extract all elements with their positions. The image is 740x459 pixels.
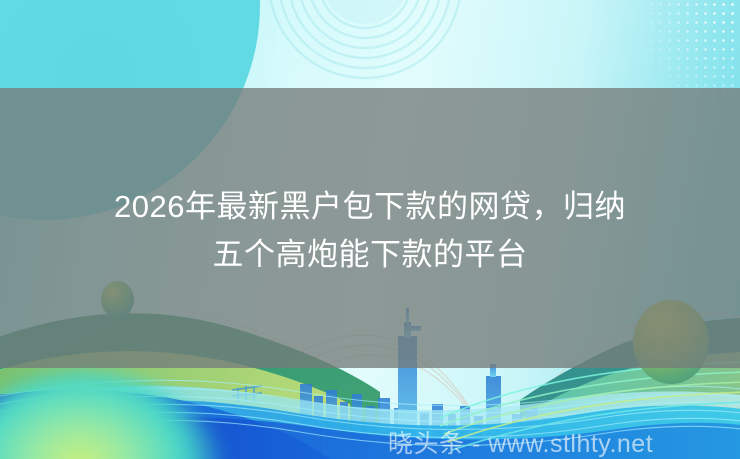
green-sphere-large-decor [633,300,709,384]
page-title: 2026年最新黑户包下款的网贷，归纳 五个高炮能下款的平台 [0,183,740,279]
page-title-line-2: 五个高炮能下款的平台 [0,231,740,279]
green-sphere-small-decor [101,281,134,318]
page-title-line-1: 2026年最新黑户包下款的网贷，归纳 [0,183,740,231]
poster-canvas: 晓头条 - www.stlhty.net 2026年最新黑户包下款的网贷，归纳 … [0,0,740,459]
watermark-text: 晓头条 - www.stlhty.net [388,424,653,459]
